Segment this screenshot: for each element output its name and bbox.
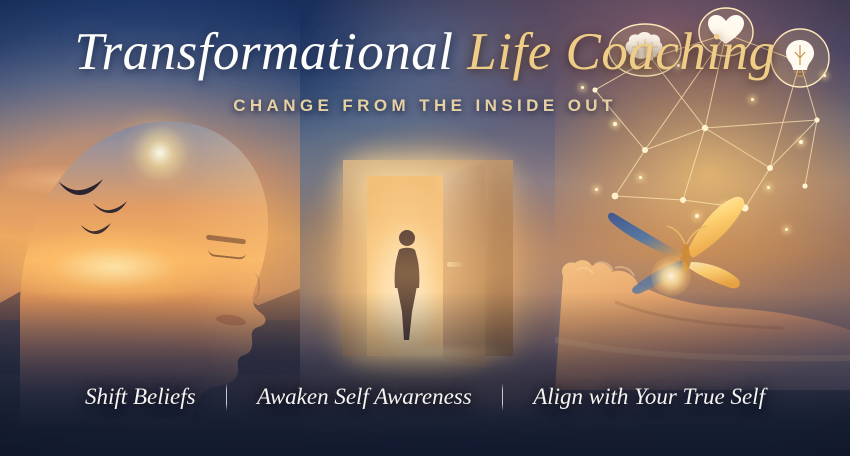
page-title: Transformational Life Coaching bbox=[0, 26, 850, 79]
tagline-list: Shift Beliefs Awaken Self Awareness Alig… bbox=[0, 383, 850, 411]
tagline-item-2: Awaken Self Awareness bbox=[257, 384, 472, 410]
tagline-item-3: Align with Your True Self bbox=[533, 384, 765, 410]
title-part-primary: Transformational bbox=[74, 23, 453, 81]
hero-banner: Transformational Life Coaching CHANGE FR… bbox=[0, 0, 850, 456]
tagline-divider bbox=[502, 383, 504, 411]
tagline-item-1: Shift Beliefs bbox=[85, 384, 196, 410]
subtitle: CHANGE FROM THE INSIDE OUT bbox=[0, 96, 850, 116]
title-part-accent: Life Coaching bbox=[467, 23, 775, 81]
tagline-divider bbox=[226, 383, 228, 411]
